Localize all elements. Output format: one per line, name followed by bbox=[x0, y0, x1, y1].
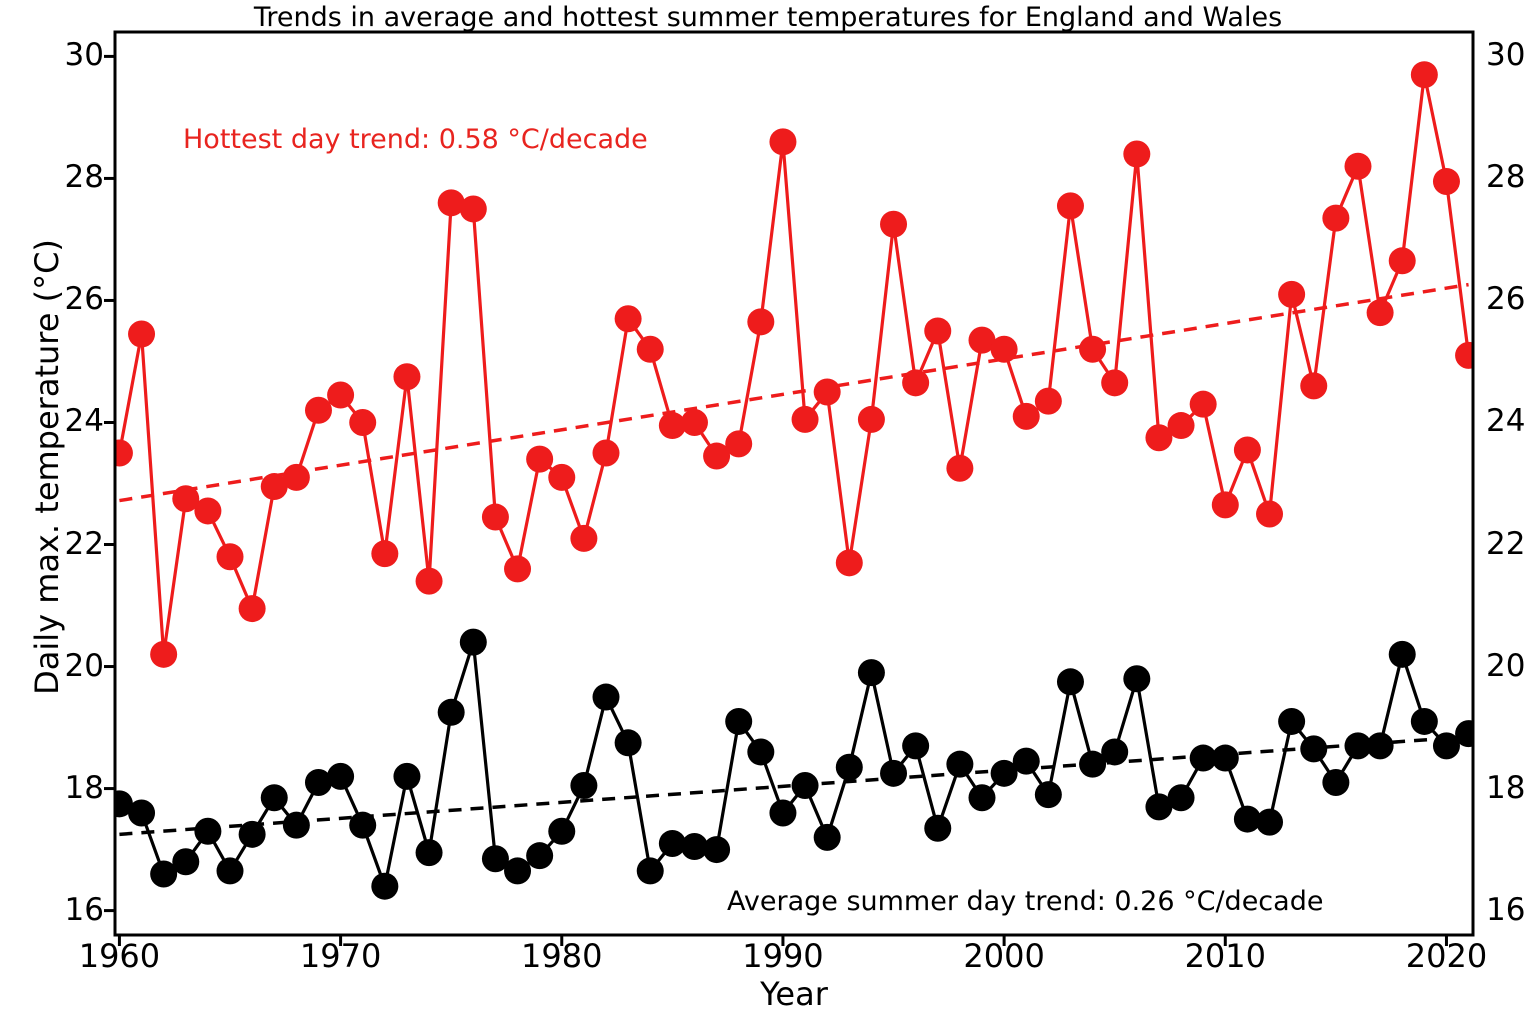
x-tick-label: 2020 bbox=[1376, 937, 1516, 975]
y-tick-label: 28 bbox=[44, 162, 104, 193]
data-point bbox=[217, 543, 244, 570]
y-tick-label: 20 bbox=[1486, 651, 1536, 682]
data-point bbox=[1455, 342, 1482, 369]
data-point bbox=[1035, 388, 1062, 415]
data-point bbox=[1344, 153, 1371, 180]
data-point bbox=[1300, 735, 1327, 762]
data-point bbox=[327, 382, 354, 409]
data-point bbox=[991, 336, 1018, 363]
data-point bbox=[1256, 501, 1283, 528]
data-point bbox=[1367, 732, 1394, 759]
data-point bbox=[769, 799, 796, 826]
data-point bbox=[1389, 641, 1416, 668]
data-point bbox=[946, 455, 973, 482]
data-point bbox=[1322, 205, 1349, 232]
data-point bbox=[1057, 668, 1084, 695]
data-point bbox=[1101, 738, 1128, 765]
y-tick-label: 28 bbox=[1486, 162, 1536, 193]
data-point bbox=[526, 842, 553, 869]
data-point bbox=[747, 308, 774, 335]
data-point bbox=[482, 504, 509, 531]
data-point bbox=[637, 857, 664, 884]
data-point bbox=[814, 378, 841, 405]
x-tick-label: 1960 bbox=[49, 937, 189, 975]
data-point bbox=[593, 439, 620, 466]
data-point bbox=[393, 363, 420, 390]
data-point bbox=[615, 305, 642, 332]
data-point bbox=[1278, 281, 1305, 308]
x-axis-label: Year bbox=[115, 975, 1473, 1013]
data-point bbox=[416, 568, 443, 595]
average-day-trend-annotation: Average summer day trend: 0.26 °C/decade bbox=[727, 886, 1323, 917]
data-point bbox=[1278, 708, 1305, 735]
data-point bbox=[792, 406, 819, 433]
hottest-day-trend-annotation: Hottest day trend: 0.58 °C/decade bbox=[183, 124, 648, 155]
data-point bbox=[1367, 299, 1394, 326]
x-tick-label: 1970 bbox=[271, 937, 411, 975]
data-point bbox=[1168, 784, 1195, 811]
data-point bbox=[1300, 372, 1327, 399]
data-point bbox=[1057, 192, 1084, 219]
data-point bbox=[460, 629, 487, 656]
y-tick-label: 18 bbox=[44, 773, 104, 804]
data-point bbox=[172, 848, 199, 875]
data-point bbox=[283, 464, 310, 491]
data-point bbox=[1212, 745, 1239, 772]
data-point bbox=[1013, 403, 1040, 430]
data-point bbox=[769, 128, 796, 155]
data-point bbox=[305, 397, 332, 424]
data-point bbox=[570, 525, 597, 552]
data-point bbox=[681, 409, 708, 436]
data-point bbox=[1123, 665, 1150, 692]
data-point bbox=[1433, 168, 1460, 195]
y-tick-label: 30 bbox=[1486, 40, 1536, 71]
x-tick-label: 1980 bbox=[492, 937, 632, 975]
data-point bbox=[1101, 369, 1128, 396]
data-point bbox=[792, 772, 819, 799]
data-point bbox=[548, 464, 575, 491]
data-point bbox=[504, 857, 531, 884]
data-point bbox=[1256, 809, 1283, 836]
y-tick-label: 20 bbox=[44, 651, 104, 682]
data-point bbox=[968, 784, 995, 811]
x-tick-label: 2000 bbox=[934, 937, 1074, 975]
data-point bbox=[526, 446, 553, 473]
y-tick-label: 26 bbox=[1486, 284, 1536, 315]
y-tick-label: 24 bbox=[44, 406, 104, 437]
data-point bbox=[946, 751, 973, 778]
data-point bbox=[836, 549, 863, 576]
y-tick-label: 18 bbox=[1486, 773, 1536, 804]
data-point bbox=[593, 684, 620, 711]
data-point bbox=[902, 369, 929, 396]
y-tick-label: 16 bbox=[1486, 895, 1536, 926]
data-point bbox=[1168, 412, 1195, 439]
data-point bbox=[703, 836, 730, 863]
data-point bbox=[438, 699, 465, 726]
data-point bbox=[150, 641, 177, 668]
data-point bbox=[128, 321, 155, 348]
data-point bbox=[194, 497, 221, 524]
data-point bbox=[349, 812, 376, 839]
data-point bbox=[239, 595, 266, 622]
data-point bbox=[747, 738, 774, 765]
data-point bbox=[1035, 781, 1062, 808]
data-point bbox=[261, 784, 288, 811]
data-point bbox=[570, 772, 597, 799]
data-point bbox=[725, 430, 752, 457]
data-point bbox=[1322, 769, 1349, 796]
chart-figure: Trends in average and hottest summer tem… bbox=[0, 0, 1536, 1026]
data-point bbox=[1455, 720, 1482, 747]
data-point bbox=[836, 754, 863, 781]
data-point bbox=[416, 839, 443, 866]
x-tick-label: 2010 bbox=[1155, 937, 1295, 975]
data-point bbox=[1234, 436, 1261, 463]
data-point bbox=[1013, 748, 1040, 775]
data-point bbox=[814, 824, 841, 851]
data-point bbox=[393, 763, 420, 790]
data-point bbox=[924, 317, 951, 344]
data-point bbox=[1389, 247, 1416, 274]
data-point bbox=[1212, 491, 1239, 518]
data-point bbox=[858, 406, 885, 433]
data-point bbox=[1411, 708, 1438, 735]
data-point bbox=[371, 540, 398, 567]
x-tick-label: 1990 bbox=[713, 937, 853, 975]
data-point bbox=[371, 873, 398, 900]
data-point bbox=[924, 815, 951, 842]
y-tick-label: 30 bbox=[44, 40, 104, 71]
data-point bbox=[1079, 336, 1106, 363]
data-point bbox=[460, 195, 487, 222]
data-point bbox=[725, 708, 752, 735]
y-tick-label: 24 bbox=[1486, 406, 1536, 437]
data-point bbox=[504, 555, 531, 582]
data-point bbox=[637, 336, 664, 363]
data-point bbox=[283, 812, 310, 839]
data-point bbox=[1411, 61, 1438, 88]
data-point bbox=[858, 659, 885, 686]
data-point bbox=[217, 857, 244, 884]
data-point bbox=[1190, 391, 1217, 418]
y-tick-label: 16 bbox=[44, 895, 104, 926]
data-point bbox=[327, 763, 354, 790]
data-point bbox=[880, 760, 907, 787]
y-tick-label: 26 bbox=[44, 284, 104, 315]
data-point bbox=[548, 818, 575, 845]
y-tick-label: 22 bbox=[1486, 529, 1536, 560]
data-point bbox=[902, 732, 929, 759]
y-tick-label: 22 bbox=[44, 529, 104, 560]
data-point bbox=[106, 439, 133, 466]
data-point bbox=[239, 821, 266, 848]
data-point bbox=[349, 409, 376, 436]
data-point bbox=[615, 729, 642, 756]
data-point bbox=[194, 818, 221, 845]
data-point bbox=[880, 211, 907, 238]
data-point bbox=[128, 799, 155, 826]
data-point bbox=[1123, 141, 1150, 168]
